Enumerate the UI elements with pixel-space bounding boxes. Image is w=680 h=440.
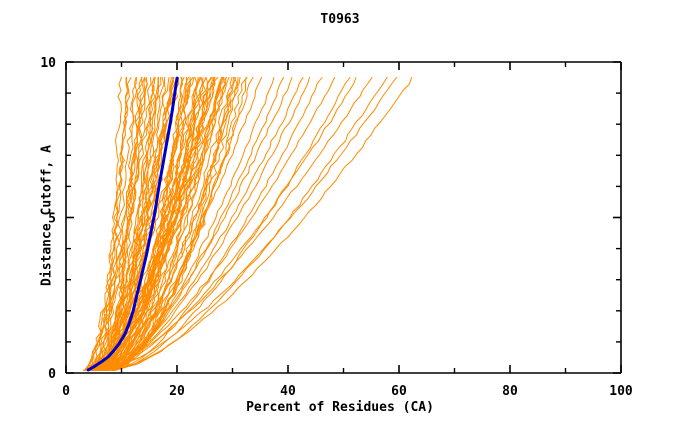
x-tick-label: 100	[609, 384, 633, 399]
y-tick-label: 5	[48, 212, 56, 227]
y-tick-label: 0	[48, 367, 56, 382]
x-tick-label: 20	[169, 384, 185, 399]
x-tick-label: 40	[280, 384, 296, 399]
x-tick-label: 0	[62, 384, 70, 399]
y-tick-label: 10	[40, 56, 56, 71]
prediction-curves-layer	[84, 78, 412, 371]
x-tick-label: 60	[391, 384, 407, 399]
x-tick-label: 80	[502, 384, 518, 399]
figure-container: T0963 Percent of Residues (CA) Distance …	[0, 0, 680, 440]
plot-canvas: 0204060801000510	[0, 0, 680, 440]
